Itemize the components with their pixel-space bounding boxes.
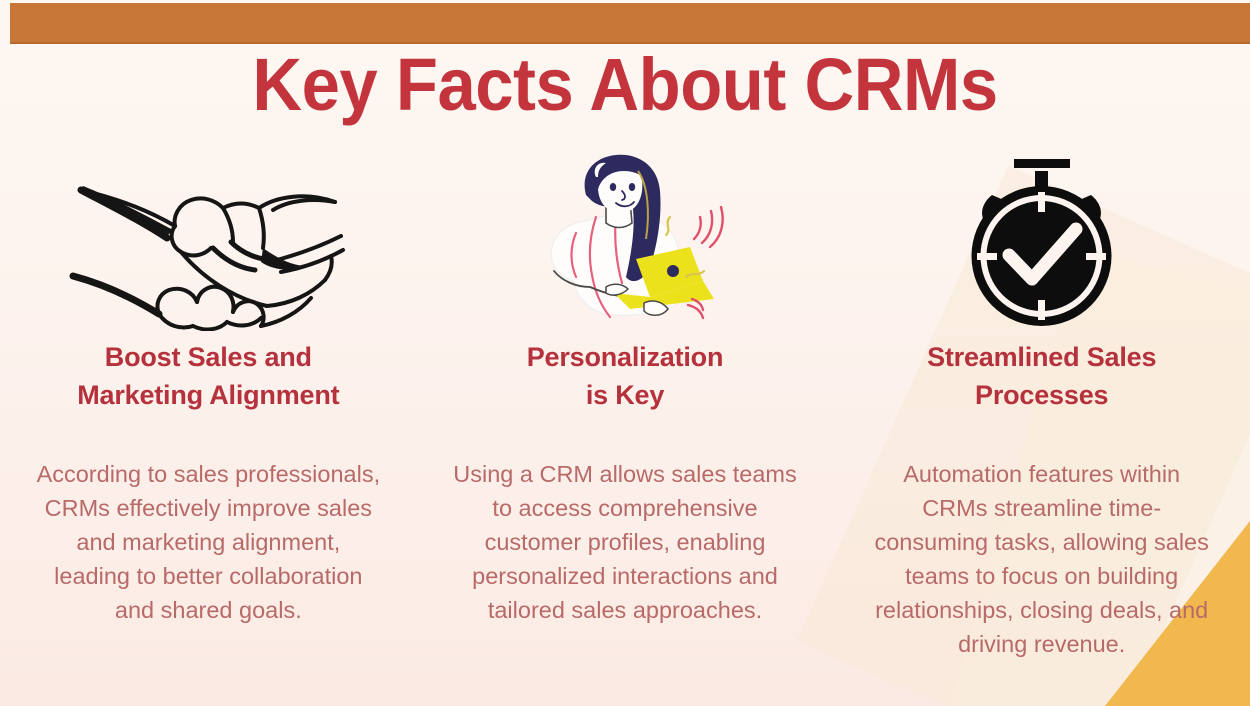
- stopwatch-check-icon: [833, 148, 1250, 338]
- slide-canvas: Key Facts About CRMs: [0, 0, 1250, 706]
- handshake-icon: [0, 148, 417, 338]
- fact-column-2: Personalization is Key Using a CRM allow…: [417, 148, 834, 627]
- fact-body-1: According to sales professionals, CRMs e…: [0, 457, 417, 627]
- fact-heading-3: Streamlined Sales Processes: [919, 338, 1164, 415]
- facts-columns: Boost Sales and Marketing Alignment Acco…: [0, 148, 1250, 688]
- fact-heading-2: Personalization is Key: [519, 338, 732, 415]
- fact-column-3: Streamlined Sales Processes Automation f…: [833, 148, 1250, 661]
- fact-heading-1: Boost Sales and Marketing Alignment: [69, 338, 347, 415]
- fact-body-2: Using a CRM allows sales teams to access…: [417, 457, 834, 627]
- fact-column-1: Boost Sales and Marketing Alignment Acco…: [0, 148, 417, 627]
- fact-body-3: Automation features within CRMs streamli…: [833, 457, 1250, 661]
- woman-with-laptop-illustration: [417, 148, 834, 338]
- top-accent-bar: [10, 3, 1250, 44]
- page-title: Key Facts About CRMs: [44, 48, 1207, 122]
